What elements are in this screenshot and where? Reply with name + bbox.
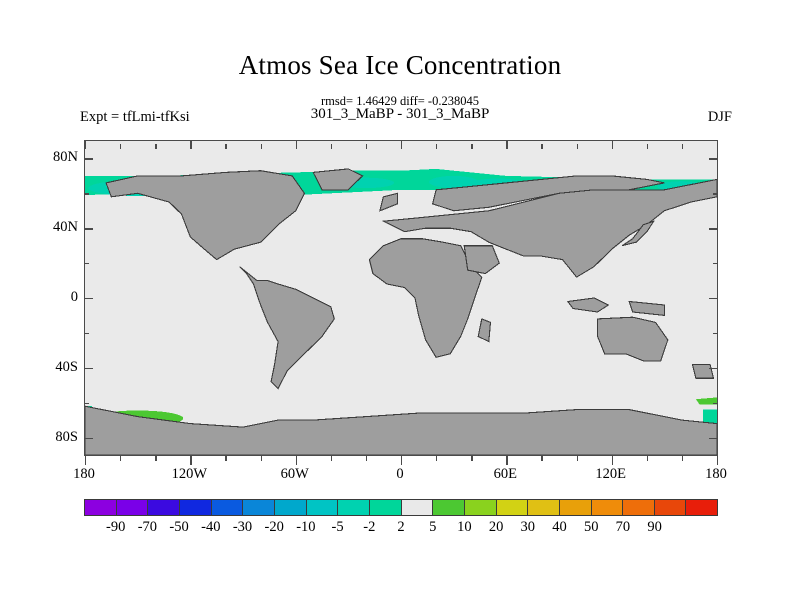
colorbar-cell-3[interactable] <box>180 500 212 515</box>
x-tick-top <box>190 140 191 149</box>
land-new-guinea <box>629 302 664 316</box>
y-minor-tick <box>84 333 89 334</box>
colorbar-cell-4[interactable] <box>212 500 244 515</box>
colorbar-cell-1[interactable] <box>117 500 149 515</box>
x-tick-major <box>401 456 402 465</box>
y-minor-tick <box>84 403 89 404</box>
x-axis-label-180: 180 <box>44 466 124 483</box>
experiment-label: Expt = tfLmi-tfKsi <box>80 109 190 126</box>
x-axis-label-60E: 60E <box>465 466 545 483</box>
land-south-america <box>240 267 335 389</box>
y-axis-label-80S: 80S <box>8 429 78 446</box>
x-tick-major <box>190 456 191 465</box>
land-africa <box>369 239 481 358</box>
x-minor-tick <box>682 456 683 461</box>
x-axis-label-0: 0 <box>360 466 440 483</box>
land-arabia <box>464 246 499 274</box>
y-tick-right-80N <box>709 158 718 159</box>
y-tick-80N <box>84 158 93 159</box>
y-minor-tick-right <box>713 333 718 334</box>
x-minor-tick <box>120 456 121 461</box>
x-tick-top <box>261 144 262 149</box>
y-axis-label-40N: 40N <box>8 219 78 236</box>
x-tick-top <box>647 144 648 149</box>
x-axis-label-60W: 60W <box>255 466 335 483</box>
x-minor-tick <box>261 456 262 461</box>
colorbar-cell-17[interactable] <box>623 500 655 515</box>
x-tick-top <box>612 140 613 149</box>
x-minor-tick <box>471 456 472 461</box>
x-axis-label-120E: 120E <box>571 466 651 483</box>
colorbar-cell-7[interactable] <box>307 500 339 515</box>
page-title: Atmos Sea Ice Concentration <box>0 50 800 81</box>
y-tick-right-80S <box>709 438 718 439</box>
land-north-america <box>106 171 304 260</box>
x-minor-tick <box>331 456 332 461</box>
y-tick-0 <box>84 298 93 299</box>
x-tick-top <box>506 140 507 149</box>
y-axis-label-80N: 80N <box>8 149 78 166</box>
x-tick-top <box>717 140 718 149</box>
x-minor-tick <box>647 456 648 461</box>
y-tick-right-40N <box>709 228 718 229</box>
x-tick-major <box>85 456 86 465</box>
y-axis-label-0: 0 <box>8 289 78 306</box>
x-tick-top <box>85 140 86 149</box>
y-minor-tick-right <box>713 403 718 404</box>
y-axis-label-40S: 40S <box>8 359 78 376</box>
x-tick-major <box>612 456 613 465</box>
x-tick-top <box>541 144 542 149</box>
x-tick-top <box>155 144 156 149</box>
y-tick-40S <box>84 368 93 369</box>
y-minor-tick <box>84 263 89 264</box>
y-minor-tick-right <box>713 263 718 264</box>
colorbar-cell-13[interactable] <box>497 500 529 515</box>
x-tick-top <box>682 144 683 149</box>
colorbar-cell-14[interactable] <box>528 500 560 515</box>
x-tick-top <box>366 144 367 149</box>
x-tick-top <box>577 144 578 149</box>
colorbar-cell-6[interactable] <box>275 500 307 515</box>
colorbar[interactable] <box>84 499 718 516</box>
colorbar-cell-2[interactable] <box>148 500 180 515</box>
y-minor-tick <box>84 193 89 194</box>
x-tick-major <box>296 456 297 465</box>
x-minor-tick <box>541 456 542 461</box>
land-new-zealand <box>692 364 713 378</box>
x-minor-tick <box>577 456 578 461</box>
colorbar-cell-5[interactable] <box>243 500 275 515</box>
x-minor-tick <box>225 456 226 461</box>
colorbar-cell-9[interactable] <box>370 500 402 515</box>
y-tick-40N <box>84 228 93 229</box>
x-tick-top <box>401 140 402 149</box>
colorbar-cell-8[interactable] <box>338 500 370 515</box>
x-axis-label-120W: 120W <box>149 466 229 483</box>
colorbar-cell-0[interactable] <box>85 500 117 515</box>
land-british-isles <box>380 193 398 211</box>
colorbar-cell-12[interactable] <box>465 500 497 515</box>
land-indonesia <box>568 298 608 312</box>
map-plot-area[interactable] <box>84 140 718 456</box>
x-tick-major <box>717 456 718 465</box>
map-contour-svg <box>85 141 717 455</box>
x-tick-top <box>471 144 472 149</box>
x-tick-major <box>506 456 507 465</box>
x-tick-top <box>331 144 332 149</box>
land-antarctica <box>85 406 717 455</box>
land-madagascar <box>478 319 490 342</box>
land-australia <box>598 317 668 361</box>
y-tick-right-0 <box>709 298 718 299</box>
x-axis-label-180: 180 <box>676 466 756 483</box>
x-tick-top <box>296 140 297 149</box>
colorbar-cell-15[interactable] <box>560 500 592 515</box>
colorbar-cell-11[interactable] <box>433 500 465 515</box>
x-tick-top <box>120 144 121 149</box>
land-mask-layer <box>85 169 717 455</box>
colorbar-tick-labels: -90-70-50-40-30-20-10-5-2251020304050709… <box>84 519 718 539</box>
y-minor-tick-right <box>713 193 718 194</box>
x-tick-top <box>436 144 437 149</box>
colorbar-tick-90: 90 <box>633 519 677 536</box>
colorbar-cell-10[interactable] <box>402 500 434 515</box>
colorbar-cell-19[interactable] <box>686 500 717 515</box>
y-tick-80S <box>84 438 93 439</box>
season-label: DJF <box>708 109 732 126</box>
colorbar-cell-16[interactable] <box>592 500 624 515</box>
x-minor-tick <box>366 456 367 461</box>
x-minor-tick <box>155 456 156 461</box>
colorbar-cell-18[interactable] <box>655 500 687 515</box>
x-tick-top <box>225 144 226 149</box>
x-minor-tick <box>436 456 437 461</box>
y-tick-right-40S <box>709 368 718 369</box>
